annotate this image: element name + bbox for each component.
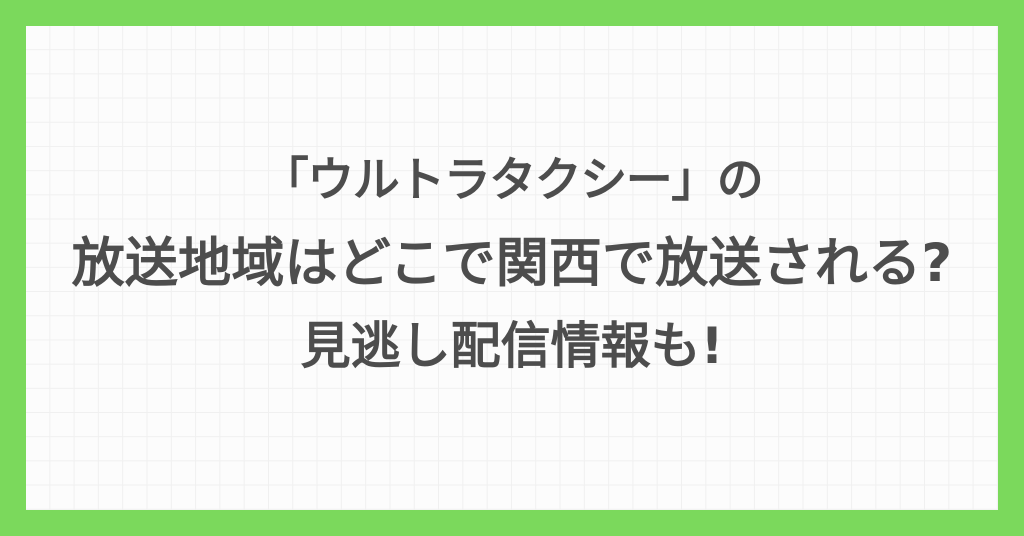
- graph-paper-background: 「ウルトラタクシー」の 放送地域はどこで関西で放送される? 見逃し配信情報も!: [26, 26, 998, 510]
- headline-line-3: 見逃し配信情報も!: [301, 305, 724, 388]
- headline-line-2: 放送地域はどこで関西で放送される?: [72, 222, 953, 305]
- headline-block: 「ウルトラタクシー」の 放送地域はどこで関西で放送される? 見逃し配信情報も!: [26, 26, 998, 510]
- headline-line-1: 「ウルトラタクシー」の: [262, 139, 763, 222]
- eyecatch-card: 「ウルトラタクシー」の 放送地域はどこで関西で放送される? 見逃し配信情報も!: [0, 0, 1024, 536]
